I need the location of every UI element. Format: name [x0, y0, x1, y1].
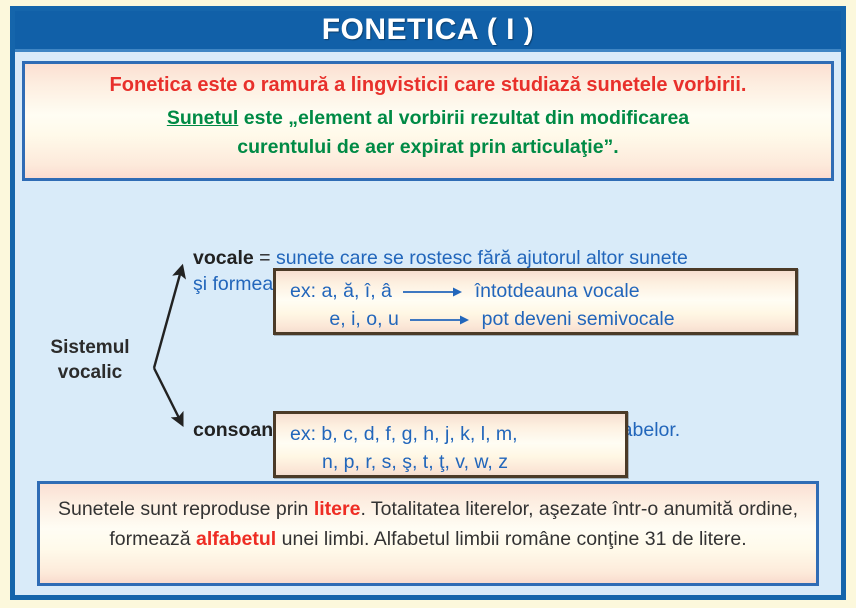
vocale-example-row-2: e, i, o, u pot deveni semivocale	[290, 305, 781, 333]
definition-line-3: curentului de aer expirat prin articulaţ…	[35, 133, 821, 162]
consoane-example-row-1: ex: b, c, d, f, g, h, j, k, l, m,	[290, 420, 611, 448]
definition-keyword-sunetul: Sunetul	[167, 107, 239, 129]
vocale-equals: =	[254, 247, 276, 269]
definition-line-2-rest: este „element al vorbirii rezultat din m…	[238, 107, 689, 129]
summary-box: Sunetele sunt reproduse prin litere. Tot…	[37, 481, 819, 586]
vocale-text-line-1: sunete care se rostesc fără ajutorul alt…	[276, 247, 688, 269]
summary-part-5: române conţine 31 de litere.	[505, 528, 747, 550]
slide-frame: FONETICA ( I ) Fonetica este o ramură a …	[10, 6, 846, 600]
vocale-example-row-2-letters: e, i, o, u	[329, 308, 398, 330]
definition-box: Fonetica este o ramură a lingvisticii ca…	[22, 61, 834, 181]
summary-highlight-litere: litere	[314, 498, 361, 520]
vocale-example-row-1-result: întotdeauna vocale	[475, 280, 640, 302]
right-arrow-icon	[403, 286, 463, 298]
definition-line-1: Fonetica este o ramură a lingvisticii ca…	[35, 71, 821, 99]
slide-root: FONETICA ( I ) Fonetica este o ramură a …	[0, 0, 856, 608]
consoane-examples-box: ex: b, c, d, f, g, h, j, k, l, m, n, p, …	[273, 411, 628, 478]
summary-part-1: Sunetele sunt reproduse prin	[58, 498, 314, 520]
title-bar: FONETICA ( I )	[15, 11, 841, 52]
summary-part-4: unei limbi. Alfabetul limbii	[276, 528, 499, 550]
vocale-example-prefix: ex:	[290, 280, 316, 302]
sistem-label-line-2: vocalic	[31, 360, 149, 385]
right-arrow-icon	[410, 314, 470, 326]
vocale-example-row-1: ex: a, ă, î, â întotdeauna vocale	[290, 277, 781, 305]
vocale-examples-box: ex: a, ă, î, â întotdeauna vocale e, i, …	[273, 268, 798, 335]
sistem-label-line-1: Sistemul	[31, 335, 149, 360]
page-title: FONETICA ( I )	[322, 13, 535, 47]
vocale-keyword: vocale	[193, 247, 254, 269]
summary-highlight-alfabetul: alfabetul	[196, 528, 276, 550]
consoane-keyword: consoane	[193, 419, 284, 441]
content-area: Fonetica este o ramură a lingvisticii ca…	[15, 55, 841, 595]
summary-part-2: . Totalitatea literelor, aşezate	[360, 498, 607, 520]
vocale-example-row-2-result: pot deveni semivocale	[482, 308, 675, 330]
consoane-example-row-2: n, p, r, s, ş, t, ţ, v, w, z	[290, 448, 611, 476]
consoane-example-row-2-text: n, p, r, s, ş, t, ţ, v, w, z	[322, 451, 508, 473]
vocale-example-row-1-letters: a, ă, î, â	[321, 280, 391, 302]
definition-line-2: Sunetul este „element al vorbirii rezult…	[35, 104, 821, 133]
sistem-vocalic-label: Sistemul vocalic	[31, 335, 149, 385]
